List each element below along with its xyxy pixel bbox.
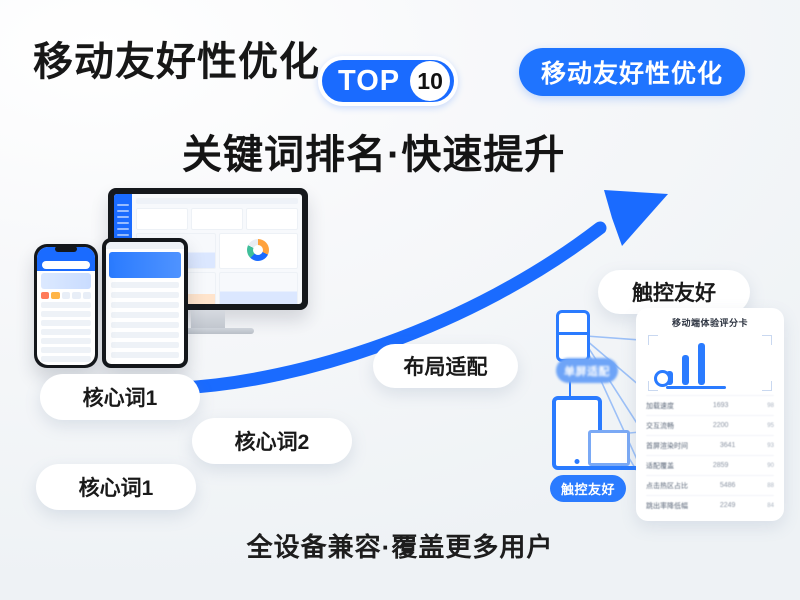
- phone-notch: [55, 246, 77, 252]
- kpi-card: [246, 208, 298, 230]
- chart-baseline: [666, 386, 726, 389]
- row-value: 1693: [713, 402, 729, 409]
- device-mockups: [18, 188, 318, 368]
- mini-phone-top-icon: [556, 310, 590, 362]
- tablet-device: [102, 238, 188, 368]
- phone-device: [34, 244, 98, 368]
- layout-adapt-pill[interactable]: 布局适配: [373, 344, 518, 388]
- dashboard-kpi-row: [136, 208, 298, 230]
- page-title: 移动友好性优化: [33, 29, 320, 87]
- phone-icon-grid: [41, 292, 91, 299]
- tablet-list: [106, 282, 184, 358]
- tablet-banner: [109, 252, 181, 278]
- donut-icon: [247, 239, 269, 261]
- phone-feed-list: [37, 302, 95, 365]
- row-name: 点击热区占比: [646, 481, 688, 491]
- scorecard-row: 跳出率降低幅 2249 84: [646, 495, 774, 515]
- phone-screen: [37, 247, 95, 365]
- scorecard-row: 交互流畅 2200 95: [646, 415, 774, 435]
- scorecard-row: 点击热区占比 5486 88: [646, 475, 774, 495]
- touch-friendly-mini-pill: 触控友好: [550, 475, 626, 502]
- row-value: 3641: [720, 442, 736, 449]
- scorecard-row: 首屏渲染时间 3641 93: [646, 435, 774, 455]
- row-value: 5486: [720, 482, 736, 489]
- row-score: 98: [767, 403, 774, 409]
- scorecard-bars: [666, 343, 705, 385]
- top-badge-label: TOP: [338, 67, 410, 96]
- row-score: 84: [767, 503, 774, 509]
- mini-laptop-icon: [588, 430, 630, 466]
- screen-adapt-mini-pill: 单屏适配: [556, 358, 618, 383]
- top-badge-number: 10: [410, 61, 450, 101]
- donut-chart-widget: [219, 233, 299, 269]
- kpi-card: [136, 208, 188, 230]
- mobile-experience-cluster: 单屏适配 触控友好 移动端体验评分卡 加载速度 1693 98: [540, 300, 790, 525]
- row-score: 93: [767, 443, 774, 449]
- footer-tagline: 全设备兼容·覆盖更多用户: [0, 527, 800, 564]
- area-chart-widget: [219, 272, 299, 304]
- row-name: 首屏渲染时间: [646, 441, 688, 451]
- keyword-pill-3[interactable]: 核心词1: [36, 464, 196, 510]
- scorecard-row: 适配覆盖 2859 90: [646, 455, 774, 475]
- row-value: 2859: [713, 462, 729, 469]
- scorecard-title: 移动端体验评分卡: [646, 316, 774, 329]
- monitor-stand: [191, 310, 225, 328]
- row-name: 跳出率降低幅: [646, 501, 688, 511]
- row-score: 90: [767, 463, 774, 469]
- dashboard-toolbar: [136, 198, 298, 204]
- row-name: 加载速度: [646, 401, 674, 411]
- row-value: 2249: [720, 502, 736, 509]
- tablet-screen: [106, 242, 184, 364]
- row-score: 95: [767, 423, 774, 429]
- scorecard-chart: [648, 335, 772, 391]
- row-value: 2200: [713, 422, 729, 429]
- poster-canvas: 移动友好性优化 TOP 10 移动友好性优化 关键词排名·快速提升: [0, 0, 800, 600]
- home-button-icon: [575, 459, 580, 464]
- keyword-pill-2[interactable]: 核心词2: [192, 418, 352, 464]
- row-name: 交互流畅: [646, 421, 674, 431]
- phone-banner: [41, 273, 91, 289]
- header-tag-badge: 移动友好性优化: [519, 48, 745, 96]
- experience-scorecard: 移动端体验评分卡 加载速度 1693 98 交互流畅 2200 95: [636, 308, 784, 521]
- row-name: 适配覆盖: [646, 461, 674, 471]
- top-rank-badge: TOP 10: [318, 56, 458, 106]
- phone-search-bar: [42, 261, 90, 269]
- keyword-pill-1[interactable]: 核心词1: [40, 374, 200, 420]
- tablet-statusbar: [106, 242, 184, 249]
- scorecard-row: 加载速度 1693 98: [646, 395, 774, 415]
- row-score: 88: [767, 483, 774, 489]
- location-pin-icon: [654, 370, 671, 387]
- kpi-card: [191, 208, 243, 230]
